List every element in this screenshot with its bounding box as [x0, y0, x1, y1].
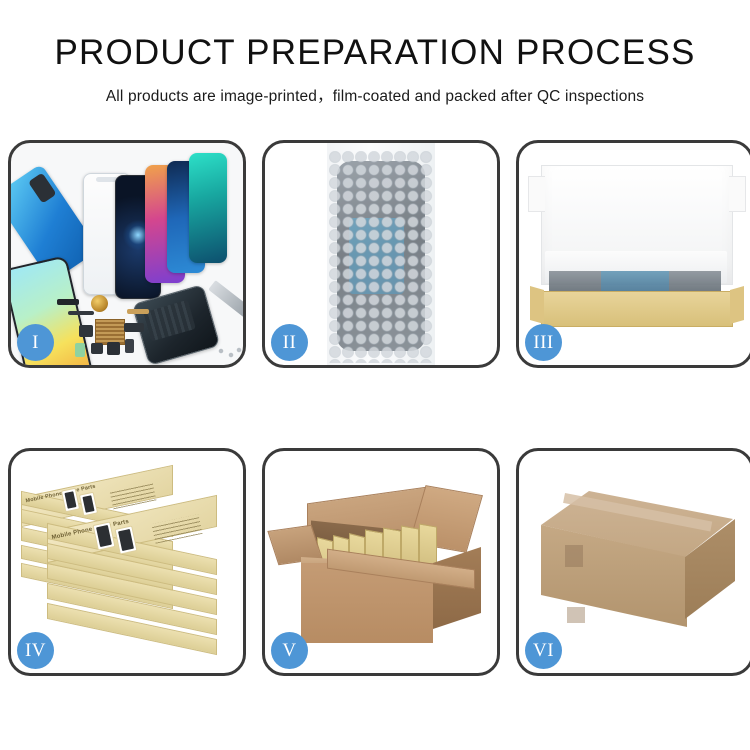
- page-header: PRODUCT PREPARATION PROCESS All products…: [0, 0, 750, 106]
- camera-module-icon: [79, 325, 93, 337]
- step-panel-5[interactable]: V: [262, 448, 500, 676]
- step-badge-5: V: [271, 632, 308, 669]
- step-badge-4: IV: [17, 632, 54, 669]
- step-panel-4[interactable]: Mobile Phone Spare Parts Mobile Phone Sp…: [8, 448, 246, 676]
- bubble-outlines-icon: [329, 151, 433, 363]
- process-step-grid: I II III Mobile Pho: [8, 140, 750, 676]
- earpiece-icon: [57, 299, 79, 305]
- battery-connector-icon: [124, 323, 144, 332]
- carton-label-patch-top: [565, 545, 583, 567]
- step-badge-2: II: [271, 324, 308, 361]
- step-badge-3: III: [525, 324, 562, 361]
- page-subtitle: All products are image-printed，film-coat…: [0, 84, 750, 106]
- step-badge-1: I: [17, 324, 54, 361]
- flex-cable-icon: [68, 311, 94, 315]
- step-panel-1[interactable]: I: [8, 140, 246, 368]
- step-badge-6: VI: [525, 632, 562, 669]
- screws-icon: [217, 347, 243, 359]
- loudspeaker-icon: [107, 342, 120, 355]
- vibrator-icon: [91, 343, 103, 354]
- speaker-coil-icon: [91, 295, 108, 312]
- step-panel-2[interactable]: II: [262, 140, 500, 368]
- step-panel-3[interactable]: III: [516, 140, 750, 368]
- sim-tray-icon: [75, 343, 85, 357]
- step-panel-6[interactable]: VI: [516, 448, 750, 676]
- button-flex-icon: [125, 339, 134, 353]
- tweezers-icon: [208, 280, 243, 318]
- page-title: PRODUCT PREPARATION PROCESS: [0, 34, 750, 73]
- gold-connector-icon: [127, 309, 149, 314]
- kraft-box-front: [541, 291, 733, 327]
- carton-label-patch-bottom: [567, 607, 585, 623]
- phone-teal-icon: [189, 153, 227, 263]
